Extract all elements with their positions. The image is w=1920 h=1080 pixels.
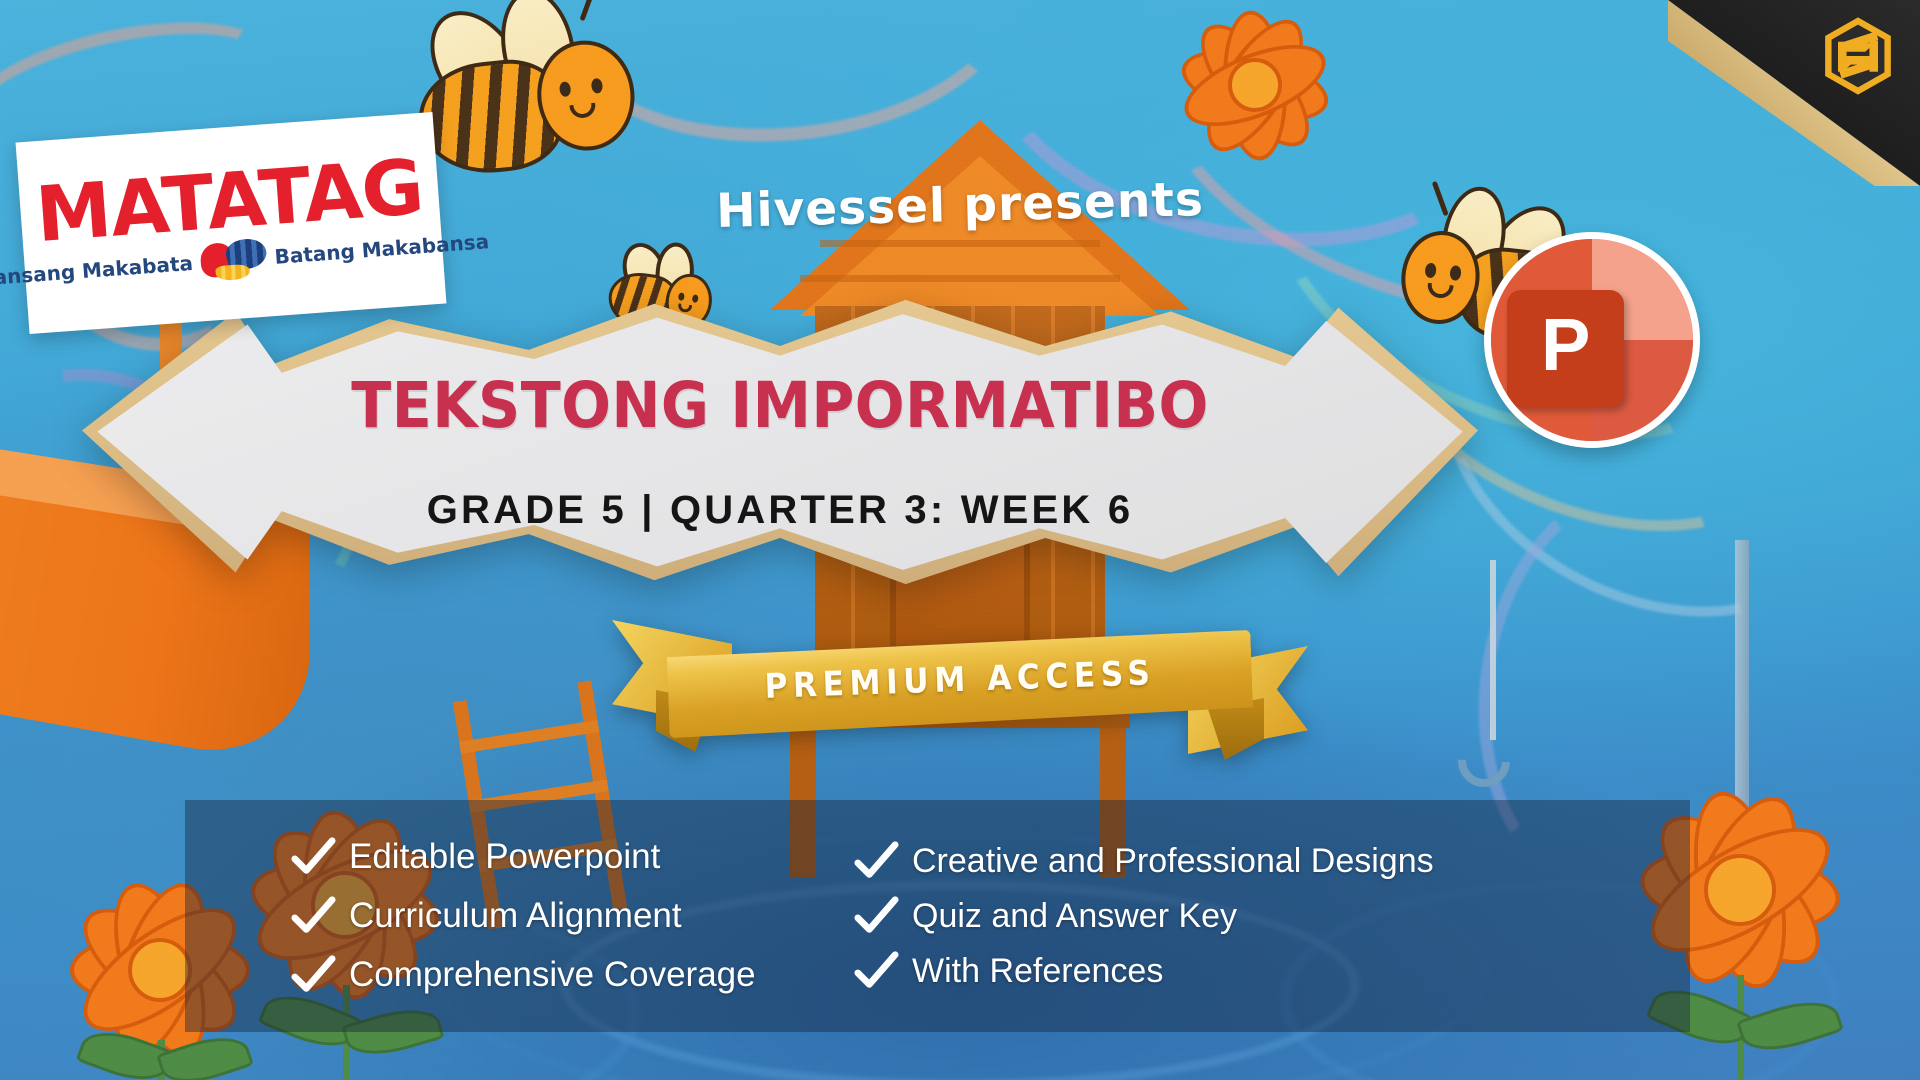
check-icon bbox=[290, 893, 336, 939]
feature-item: Editable Powerpoint bbox=[290, 834, 835, 880]
powerpoint-circle: P bbox=[1491, 239, 1693, 441]
feature-label: Curriculum Alignment bbox=[349, 896, 682, 936]
check-icon bbox=[853, 838, 899, 884]
features-panel: Editable Powerpoint Curriculum Alignment… bbox=[185, 800, 1690, 1032]
hivessel-hex-logo-icon bbox=[1822, 16, 1894, 96]
clasped-hands-icon bbox=[199, 237, 268, 282]
premium-access-ribbon: PREMIUM ACCESS bbox=[620, 636, 1300, 756]
feature-item: Comprehensive Coverage bbox=[290, 952, 835, 998]
matatag-tagline-left: Bansang Makabata bbox=[0, 251, 194, 291]
feature-label: With References bbox=[912, 952, 1163, 991]
slide-cover: MATATAG Bansang Makabata Batang Makabans… bbox=[0, 0, 1920, 1080]
check-icon bbox=[290, 952, 336, 998]
feature-label: Creative and Professional Designs bbox=[912, 842, 1434, 881]
page-title: TEKSTONG IMPORMATIBO bbox=[351, 369, 1208, 442]
powerpoint-icon: P bbox=[1484, 232, 1700, 448]
feature-item: Curriculum Alignment bbox=[290, 893, 835, 939]
feature-label: Comprehensive Coverage bbox=[349, 955, 756, 995]
features-right-column: Creative and Professional Designs Quiz a… bbox=[835, 838, 1595, 994]
feature-item: Quiz and Answer Key bbox=[853, 893, 1595, 939]
flower bbox=[1180, 10, 1330, 160]
feature-label: Editable Powerpoint bbox=[349, 837, 660, 877]
feature-item: Creative and Professional Designs bbox=[853, 838, 1595, 884]
feature-item: With References bbox=[853, 948, 1595, 994]
check-icon bbox=[290, 834, 336, 880]
powerpoint-letter: P bbox=[1507, 290, 1624, 407]
features-left-column: Editable Powerpoint Curriculum Alignment… bbox=[290, 834, 835, 998]
feature-label: Quiz and Answer Key bbox=[912, 897, 1237, 936]
check-icon bbox=[853, 948, 899, 994]
check-icon bbox=[853, 893, 899, 939]
matatag-tagline-right: Batang Makabansa bbox=[274, 229, 490, 269]
grade-quarter-week-subtitle: GRADE 5 | QUARTER 3: WEEK 6 bbox=[427, 488, 1134, 533]
swing-rope bbox=[1490, 560, 1496, 740]
matatag-logo-card: MATATAG Bansang Makabata Batang Makabans… bbox=[16, 112, 447, 334]
